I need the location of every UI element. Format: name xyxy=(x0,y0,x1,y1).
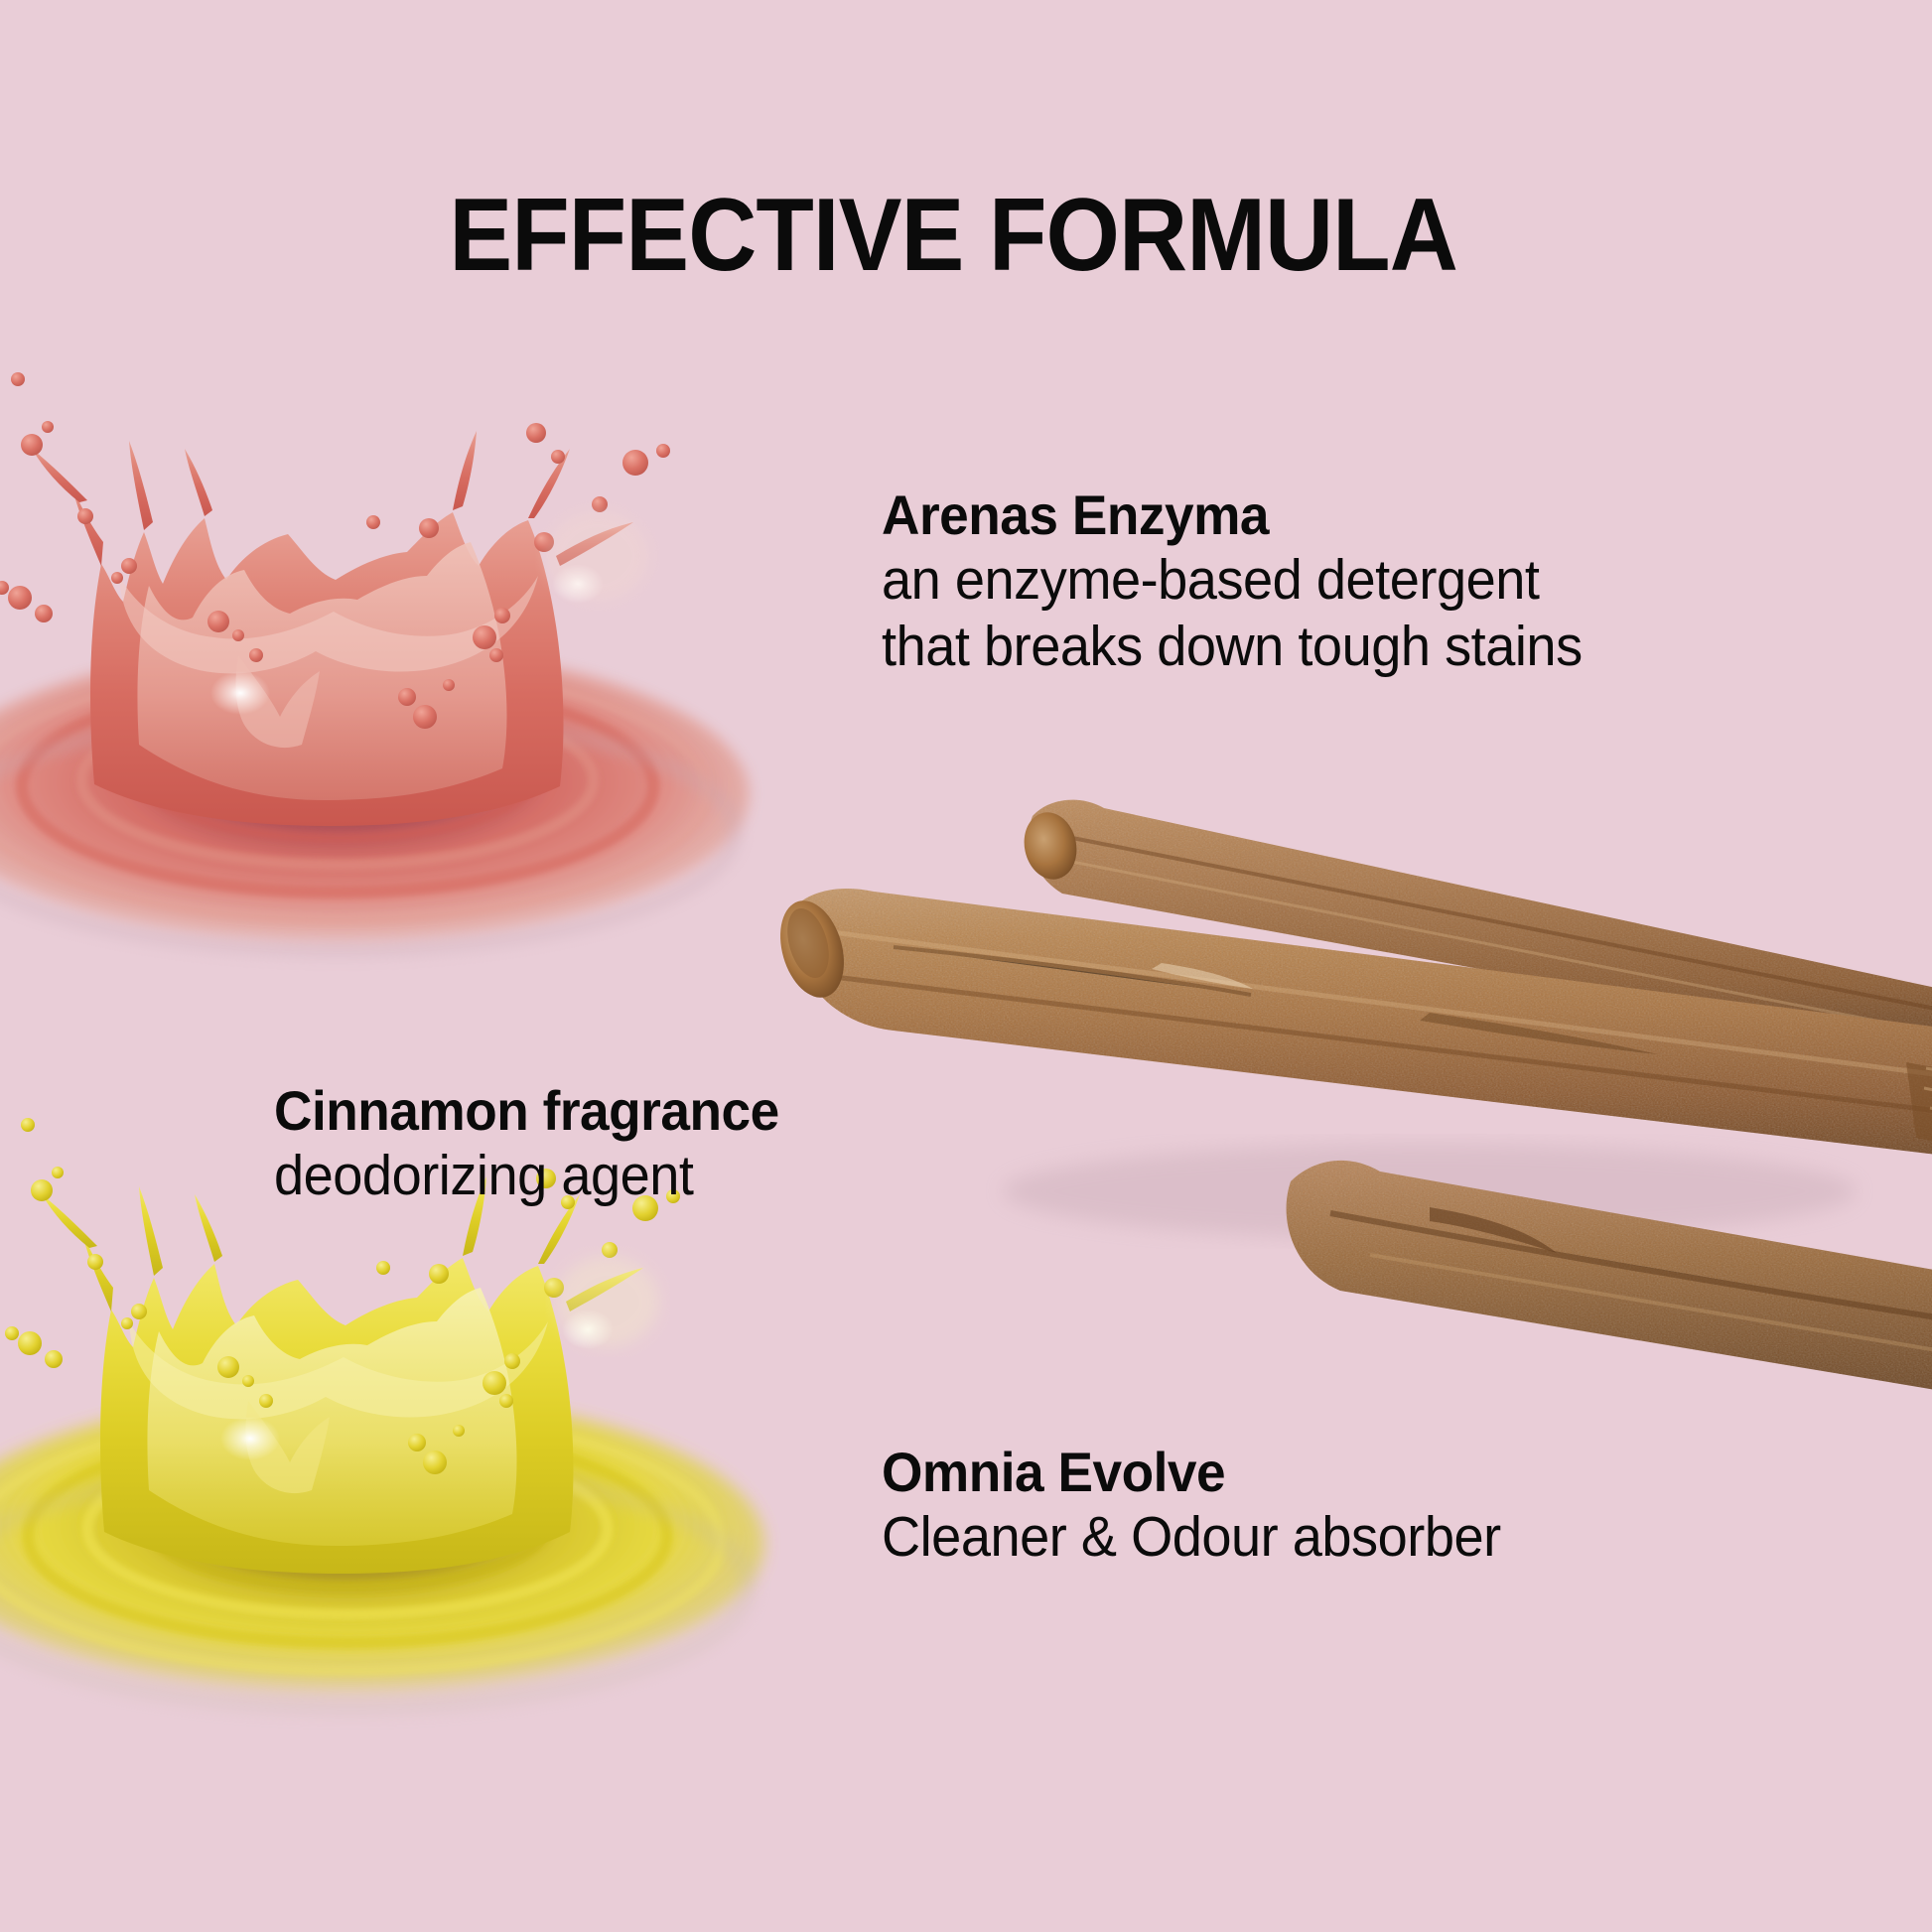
ingredient-desc-omnia-line1: Cleaner & Odour absorber xyxy=(882,1504,1501,1571)
red-liquid-splash-crown xyxy=(0,328,755,963)
product-formula-infographic: EFFECTIVE FORMULA Arenas Enzyma an enzym… xyxy=(0,0,1932,1932)
ingredient-desc-cinnamon-line1: deodorizing agent xyxy=(274,1143,779,1209)
page-title: EFFECTIVE FORMULA xyxy=(65,184,1842,287)
ingredient-name-arenas-enzyma: Arenas Enzyma xyxy=(882,484,1583,547)
yellow-crown-body xyxy=(100,1258,574,1574)
ingredient-name-cinnamon-fragrance: Cinnamon fragrance xyxy=(274,1080,779,1143)
ingredient-desc-arenas-line1: an enzyme-based detergent xyxy=(882,547,1583,614)
ingredient-block-cinnamon-fragrance: Cinnamon fragrance deodorizing agent xyxy=(274,1080,806,1209)
ingredient-desc-arenas-line2: that breaks down tough stains xyxy=(882,614,1583,680)
ingredient-block-omnia-evolve: Omnia Evolve Cleaner & Odour absorber xyxy=(882,1442,1534,1571)
ingredient-name-omnia-evolve: Omnia Evolve xyxy=(882,1442,1501,1504)
cinnamon-sticks-photo xyxy=(735,764,1932,1400)
ingredient-block-arenas-enzyma: Arenas Enzyma an enzyme-based detergent … xyxy=(882,484,1619,680)
red-crown-body xyxy=(90,512,564,826)
